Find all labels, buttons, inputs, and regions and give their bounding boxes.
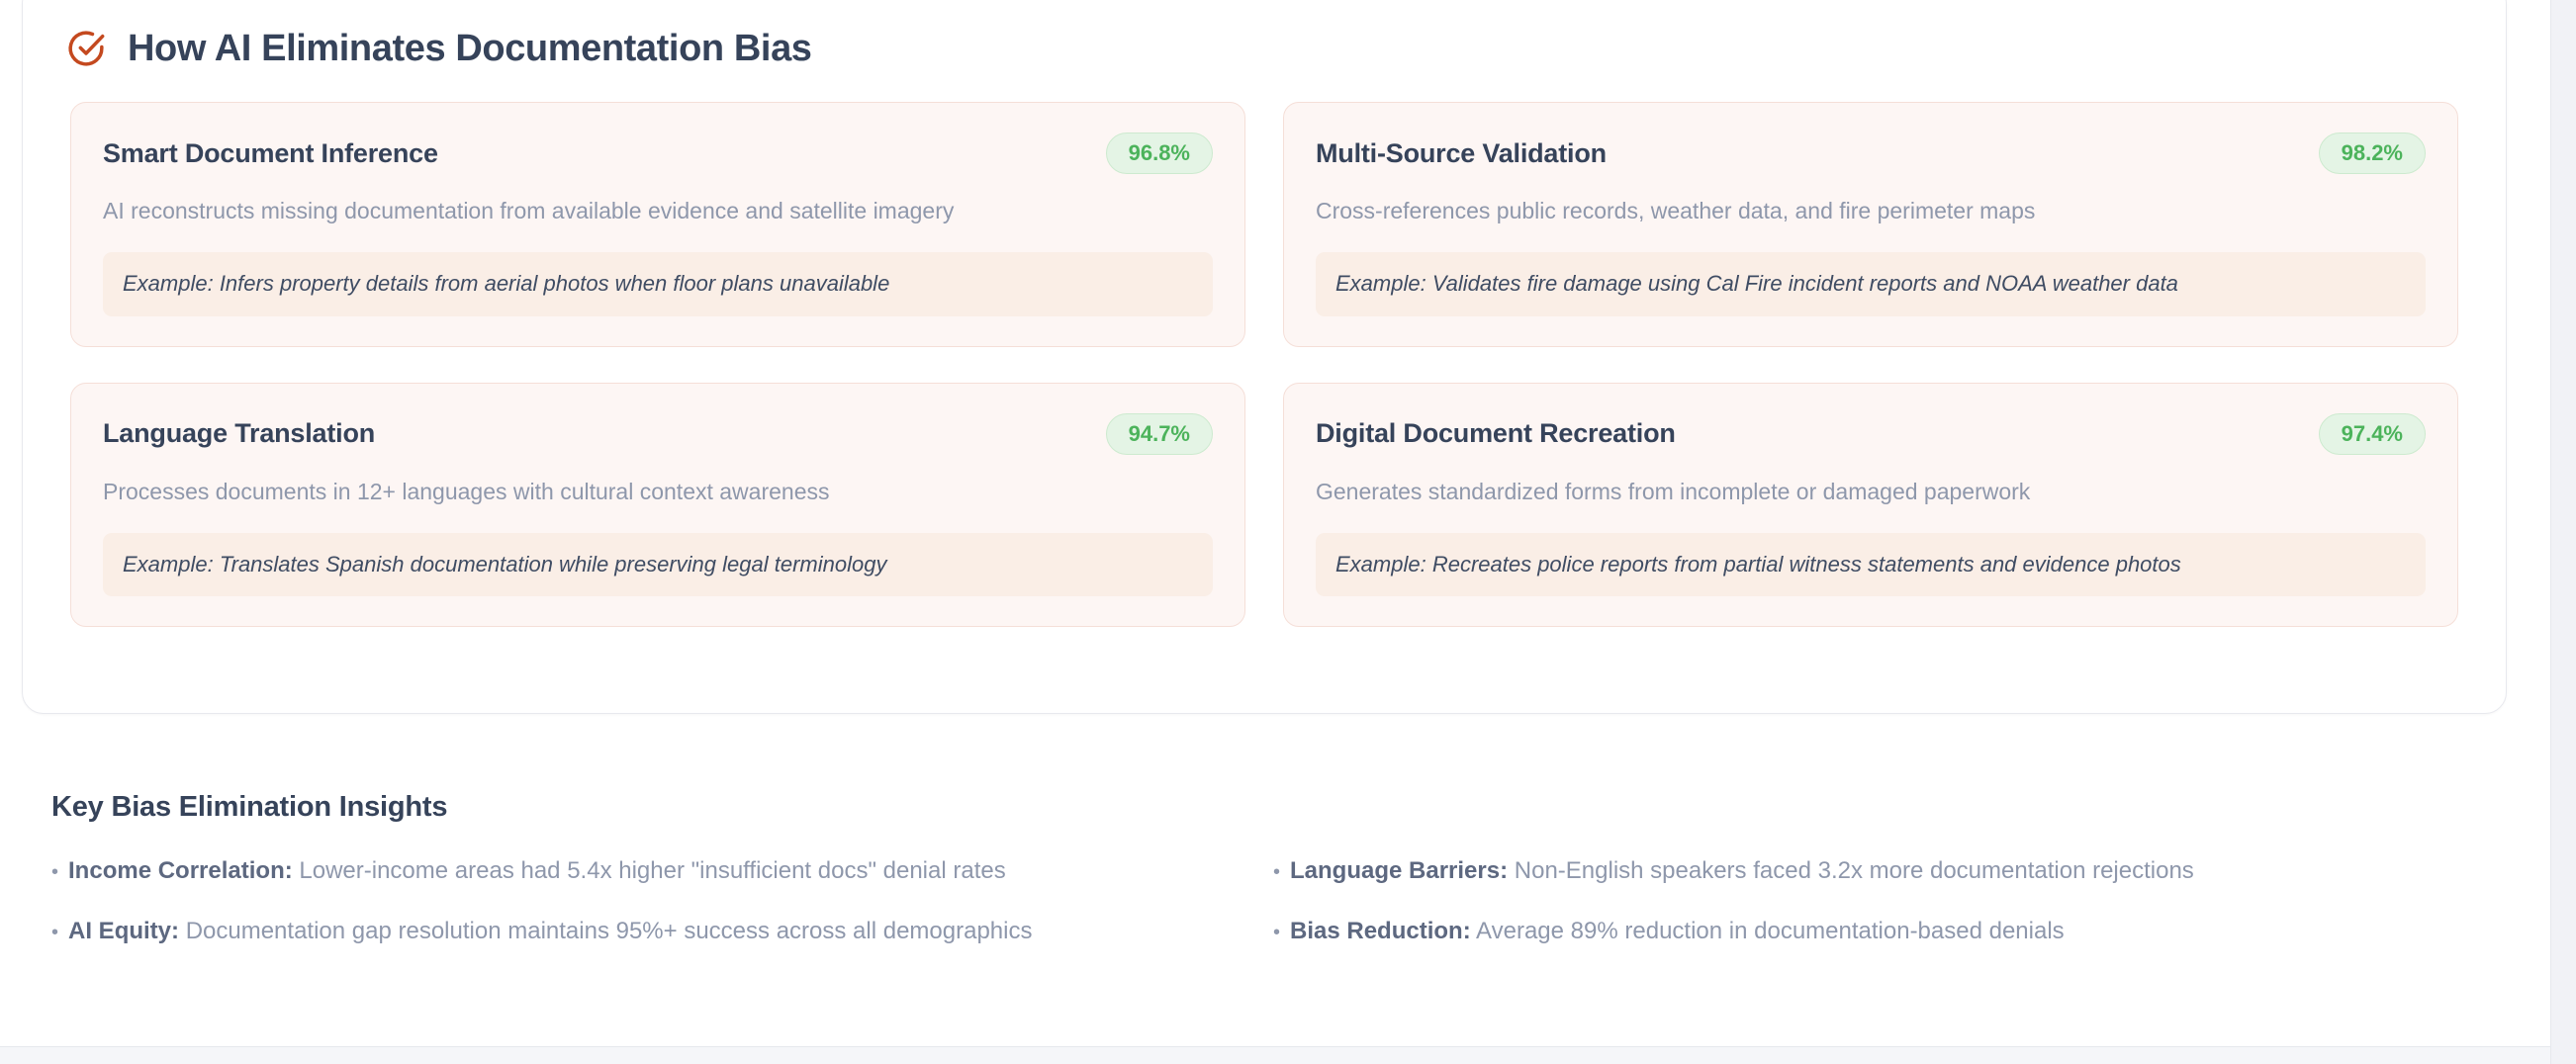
- card-header: Language Translation 94.7%: [103, 413, 1213, 455]
- insight-label: Income Correlation:: [68, 857, 293, 884]
- insight-body: Language Barriers: Non-English speakers …: [1290, 855, 2194, 886]
- insight-label: Language Barriers:: [1290, 857, 1508, 884]
- card-title: Digital Document Recreation: [1316, 418, 1676, 449]
- insight-value: Average 89% reduction in documentation-b…: [1476, 918, 2065, 944]
- insight-label: Bias Reduction:: [1290, 918, 1471, 944]
- capability-card[interactable]: Language Translation 94.7% Processes doc…: [70, 383, 1245, 628]
- capability-card-grid: Smart Document Inference 96.8% AI recons…: [23, 68, 2506, 627]
- check-circle-icon: [66, 29, 106, 68]
- insight-value: Lower-income areas had 5.4x higher "insu…: [299, 857, 1005, 884]
- card-title: Language Translation: [103, 418, 375, 449]
- card-header: Digital Document Recreation 97.4%: [1316, 413, 2426, 455]
- accuracy-badge: 98.2%: [2319, 133, 2426, 174]
- card-example: Example: Validates fire damage using Cal…: [1316, 252, 2426, 316]
- insight-label: AI Equity:: [68, 918, 179, 944]
- insight-value: Documentation gap resolution maintains 9…: [186, 918, 1033, 944]
- content-column: How AI Eliminates Documentation Bias Sma…: [0, 0, 2550, 1064]
- insight-body: Income Correlation: Lower-income areas h…: [68, 855, 1006, 886]
- panel-header: How AI Eliminates Documentation Bias: [23, 0, 2506, 68]
- insight-item: • Income Correlation: Lower-income areas…: [51, 855, 1234, 886]
- bullet-icon: •: [51, 858, 58, 886]
- card-header: Multi-Source Validation 98.2%: [1316, 133, 2426, 174]
- insights-grid: • Income Correlation: Lower-income areas…: [51, 855, 2455, 946]
- bullet-icon: •: [1273, 919, 1280, 946]
- page-root: How AI Eliminates Documentation Bias Sma…: [0, 0, 2576, 1064]
- insight-body: Bias Reduction: Average 89% reduction in…: [1290, 916, 2065, 946]
- capability-card[interactable]: Digital Document Recreation 97.4% Genera…: [1283, 383, 2458, 628]
- capability-card[interactable]: Multi-Source Validation 98.2% Cross-refe…: [1283, 102, 2458, 347]
- card-header: Smart Document Inference 96.8%: [103, 133, 1213, 174]
- insight-item: • Bias Reduction: Average 89% reduction …: [1273, 916, 2455, 946]
- vertical-scrollbar[interactable]: [2550, 0, 2576, 1064]
- insight-item: • Language Barriers: Non-English speaker…: [1273, 855, 2455, 886]
- card-description: AI reconstructs missing documentation fr…: [103, 196, 1213, 226]
- card-example: Example: Translates Spanish documentatio…: [103, 533, 1213, 597]
- accuracy-badge: 94.7%: [1106, 413, 1213, 455]
- card-description: Generates standardized forms from incomp…: [1316, 477, 2426, 507]
- accuracy-badge: 97.4%: [2319, 413, 2426, 455]
- accuracy-badge: 96.8%: [1106, 133, 1213, 174]
- insight-item: • AI Equity: Documentation gap resolutio…: [51, 916, 1234, 946]
- card-example: Example: Infers property details from ae…: [103, 252, 1213, 316]
- insight-body: AI Equity: Documentation gap resolution …: [68, 916, 1032, 946]
- insight-value: Non-English speakers faced 3.2x more doc…: [1515, 857, 2194, 884]
- card-description: Processes documents in 12+ languages wit…: [103, 477, 1213, 507]
- bullet-icon: •: [51, 919, 58, 946]
- bottom-strip: [0, 1047, 2550, 1064]
- card-title: Smart Document Inference: [103, 138, 438, 169]
- insights-section: Key Bias Elimination Insights • Income C…: [51, 791, 2455, 946]
- card-title: Multi-Source Validation: [1316, 138, 1607, 169]
- capability-card[interactable]: Smart Document Inference 96.8% AI recons…: [70, 102, 1245, 347]
- card-description: Cross-references public records, weather…: [1316, 196, 2426, 226]
- card-example: Example: Recreates police reports from p…: [1316, 533, 2426, 597]
- page-title: How AI Eliminates Documentation Bias: [128, 30, 812, 67]
- insights-title: Key Bias Elimination Insights: [51, 791, 2455, 824]
- documentation-bias-panel: How AI Eliminates Documentation Bias Sma…: [22, 0, 2507, 714]
- bullet-icon: •: [1273, 858, 1280, 886]
